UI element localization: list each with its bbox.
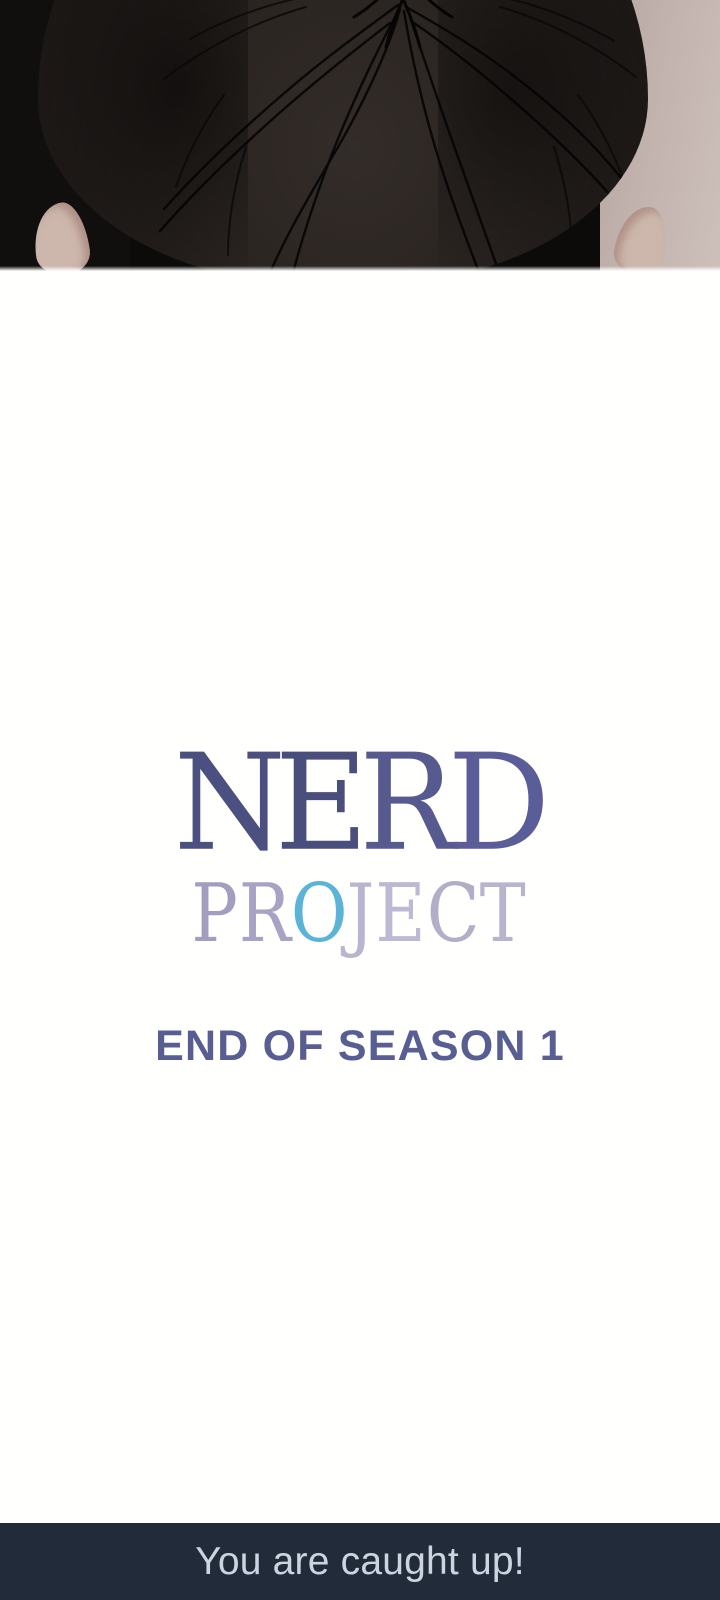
- character-hair: [38, 0, 648, 271]
- logo-letter-n: N: [174, 743, 282, 866]
- logo-sub-letter-c: C: [427, 873, 483, 954]
- logo-subtitle-project: PROJECT: [14, 873, 705, 954]
- hair-strand-lines-icon: [38, 0, 648, 271]
- caught-up-bar[interactable]: You are caught up!: [0, 1523, 720, 1600]
- logo-sub-letter-p: P: [191, 873, 240, 954]
- logo-sub-letter-o: O: [291, 873, 351, 954]
- series-logo: NERD PROJECT: [0, 745, 720, 949]
- logo-sub-letter-t: T: [480, 873, 529, 954]
- logo-letter-d: D: [448, 743, 547, 866]
- comic-panel[interactable]: [0, 0, 720, 271]
- episode-viewer[interactable]: NERD PROJECT END OF SEASON 1 You are cau…: [0, 0, 720, 1600]
- logo-letter-e: E: [275, 743, 364, 866]
- logo-sub-letter-j: J: [347, 873, 378, 954]
- caught-up-label: You are caught up!: [195, 1540, 525, 1584]
- logo-letter-r: R: [359, 743, 451, 866]
- end-of-season-label: END OF SEASON 1: [0, 1022, 720, 1071]
- logo-title-nerd: NERD: [0, 743, 720, 866]
- logo-sub-letter-e: E: [375, 873, 428, 954]
- panel-bottom-fade: [0, 266, 720, 271]
- logo-sub-letter-r: R: [239, 873, 294, 954]
